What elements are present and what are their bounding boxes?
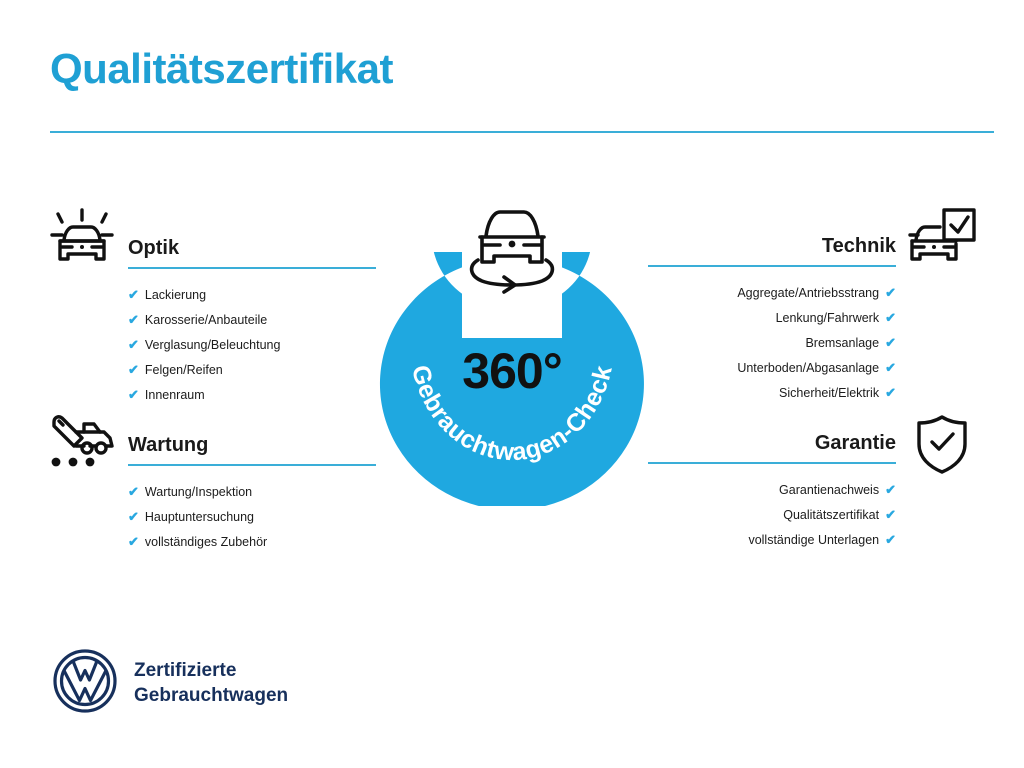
section-divider-technik <box>648 265 896 267</box>
list-item-label: vollständiges Zubehör <box>145 535 267 549</box>
check-icon: ✔ <box>128 312 139 327</box>
list-item-label: Garantienachweis <box>779 483 879 497</box>
check-icon: ✔ <box>885 310 896 325</box>
section-divider-garantie <box>648 462 896 464</box>
check-icon: ✔ <box>885 285 896 300</box>
car-shine-icon <box>46 204 118 275</box>
check-icon: ✔ <box>885 482 896 497</box>
section-divider-wartung <box>128 464 376 466</box>
check-icon: ✔ <box>885 360 896 375</box>
check-icon: ✔ <box>128 484 139 499</box>
list-item-label: Wartung/Inspektion <box>145 485 252 499</box>
list-item: vollständige Unterlagen✔ <box>566 528 896 553</box>
check-icon: ✔ <box>128 534 139 549</box>
list-item-label: Innenraum <box>145 388 205 402</box>
list-item-label: vollständige Unterlagen <box>748 533 879 547</box>
car-wrench-service-icon <box>46 412 120 477</box>
badge-360-gebrauchtwagen-check: Gebrauchtwagen-Check 360° <box>374 196 650 506</box>
brand-line-1: Zertifizierte <box>134 660 236 681</box>
check-icon: ✔ <box>885 507 896 522</box>
car-checkbox-icon <box>906 206 978 275</box>
list-item: ✔vollständiges Zubehör <box>128 530 458 555</box>
check-icon: ✔ <box>128 362 139 377</box>
shield-check-icon <box>912 412 972 481</box>
check-icon: ✔ <box>128 337 139 352</box>
section-divider-optik <box>128 267 376 269</box>
badge-value: 360° <box>374 342 650 400</box>
list-item-label: Bremsanlage <box>805 336 879 350</box>
list-item-label: Aggregate/Antriebsstrang <box>737 286 879 300</box>
check-icon: ✔ <box>128 387 139 402</box>
list-item-label: Karosserie/Anbauteile <box>145 313 267 327</box>
check-icon: ✔ <box>885 532 896 547</box>
brand-text: ZertifizierteGebrauchtwagen <box>134 659 288 708</box>
car-rotate-360-icon <box>460 196 564 301</box>
list-item-label: Verglasung/Beleuchtung <box>145 338 281 352</box>
volkswagen-logo-icon <box>52 648 118 719</box>
check-icon: ✔ <box>128 509 139 524</box>
list-item-label: Unterboden/Abgasanlage <box>737 361 879 375</box>
check-icon: ✔ <box>885 385 896 400</box>
list-item-label: Hauptuntersuchung <box>145 510 254 524</box>
list-item-label: Sicherheit/Elektrik <box>779 386 879 400</box>
list-item-label: Lackierung <box>145 288 206 302</box>
list-item-label: Felgen/Reifen <box>145 363 223 377</box>
header-divider <box>50 131 994 133</box>
check-icon: ✔ <box>128 287 139 302</box>
check-icon: ✔ <box>885 335 896 350</box>
page-title: Qualitätszertifikat <box>50 48 393 90</box>
list-item-label: Qualitätszertifikat <box>783 508 879 522</box>
list-item-label: Lenkung/Fahrwerk <box>776 311 880 325</box>
brand-lockup: ZertifizierteGebrauchtwagen <box>52 648 288 719</box>
brand-line-2: Gebrauchtwagen <box>134 685 288 706</box>
